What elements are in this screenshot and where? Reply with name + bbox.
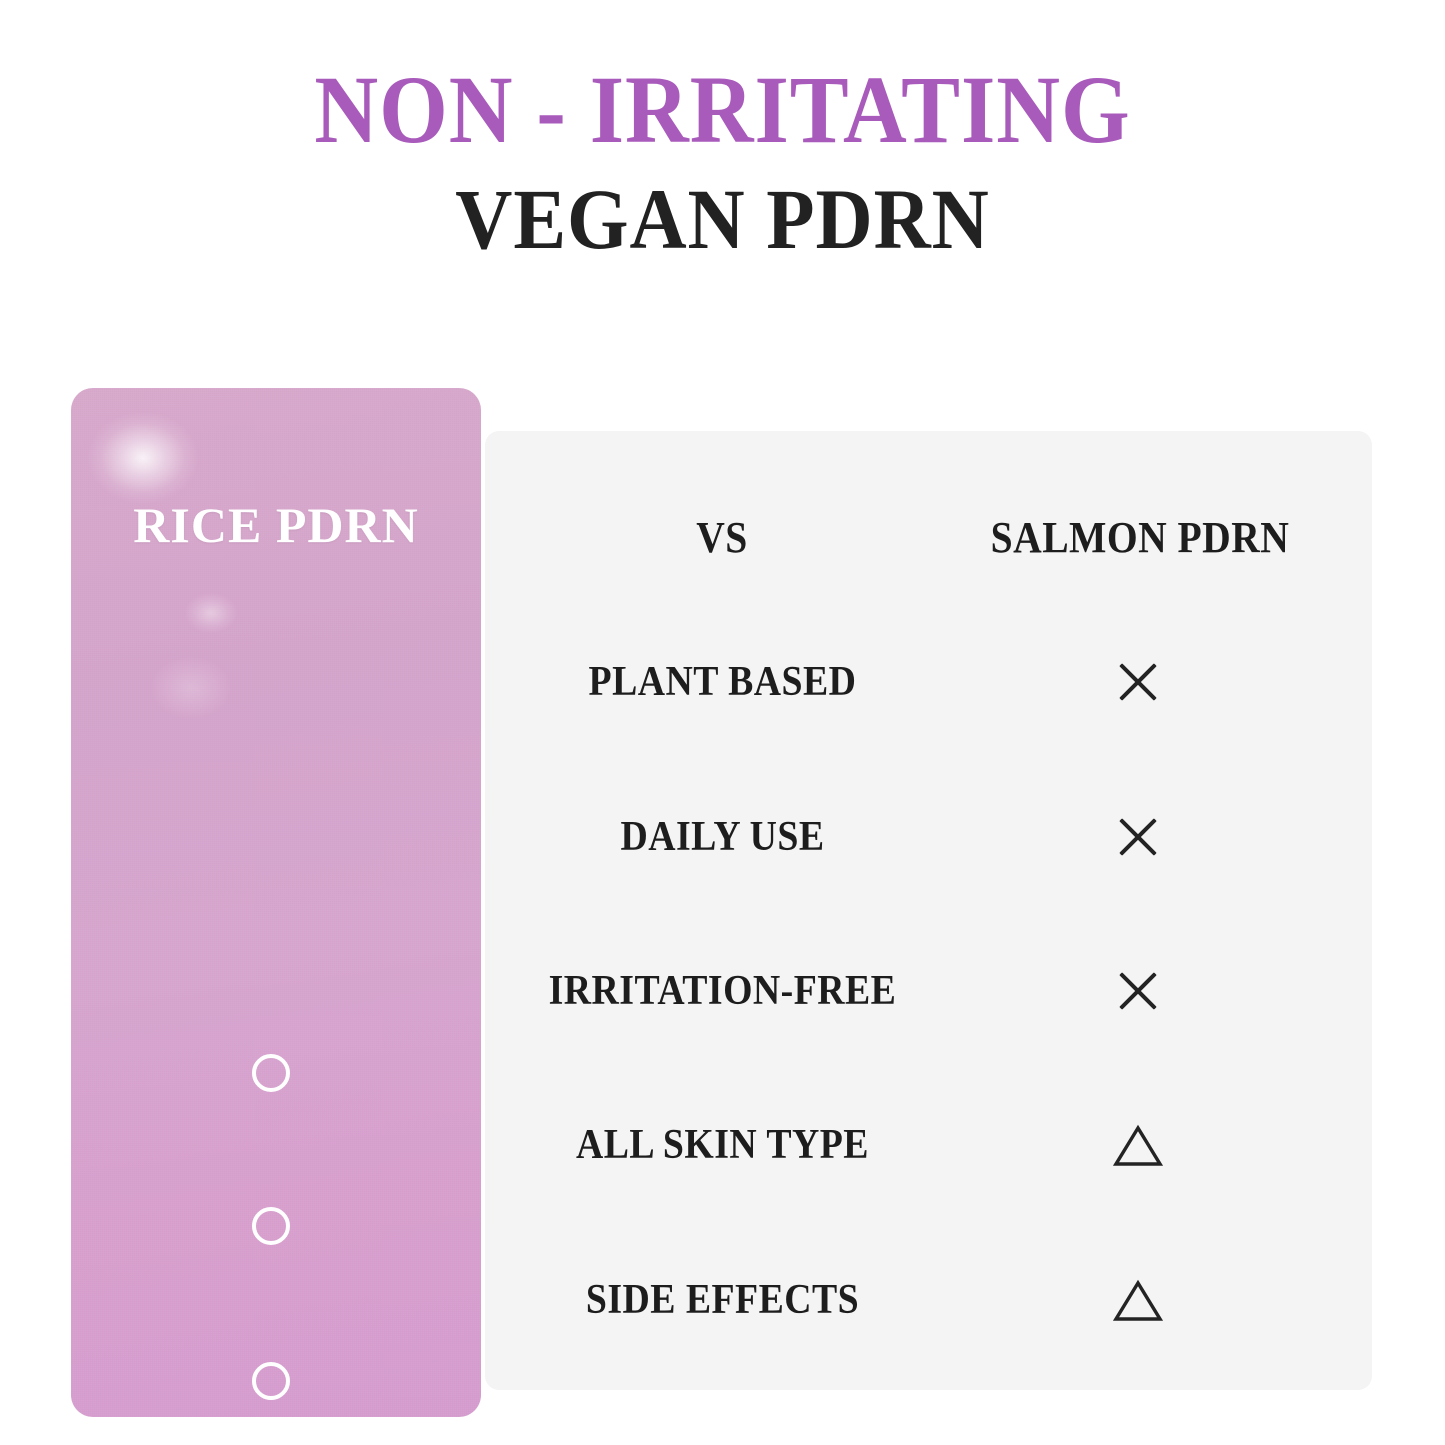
comparison-row-label-plant-based: PLANT BASED: [518, 647, 928, 717]
comparison-panel: [485, 431, 1372, 1390]
salmon-mark-irritation-free: [1088, 956, 1188, 1026]
triangle-outline-icon: [1113, 1123, 1163, 1167]
page-title-line-1: NON - IRRITATING: [58, 62, 1387, 158]
comparison-row-label-all-skin-type: ALL SKIN TYPE: [518, 1110, 928, 1180]
page-title-line-2: VEGAN PDRN: [58, 176, 1387, 262]
rice-pdrn-card: RICE PDRN: [71, 388, 481, 1417]
salmon-mark-daily-use: [1088, 802, 1188, 872]
rice-mark-irritation-free: [245, 1355, 297, 1407]
comparison-competitor-title: SALMON PDRN: [924, 505, 1356, 569]
cross-icon: [1116, 969, 1160, 1013]
page-title: NON - IRRITATING VEGAN PDRN: [0, 62, 1445, 262]
circle-outline-icon: [252, 1054, 290, 1092]
comparison-row-label-daily-use: DAILY USE: [518, 802, 928, 872]
comparison-vs-label: VS: [612, 505, 832, 569]
rice-pdrn-mark-column: [71, 388, 481, 1417]
salmon-mark-plant-based: [1088, 647, 1188, 717]
rice-mark-daily-use: [245, 1200, 297, 1252]
comparison-row-label-side-effects: SIDE EFFECTS: [518, 1265, 928, 1335]
rice-mark-plant-based: [245, 1047, 297, 1099]
cross-icon: [1116, 660, 1160, 704]
triangle-outline-icon: [1113, 1278, 1163, 1322]
salmon-mark-all-skin-type: [1088, 1110, 1188, 1180]
comparison-row-label-irritation-free: IRRITATION-FREE: [518, 956, 928, 1026]
circle-outline-icon: [252, 1362, 290, 1400]
circle-outline-icon: [252, 1207, 290, 1245]
cross-icon: [1116, 815, 1160, 859]
salmon-mark-side-effects: [1088, 1265, 1188, 1335]
